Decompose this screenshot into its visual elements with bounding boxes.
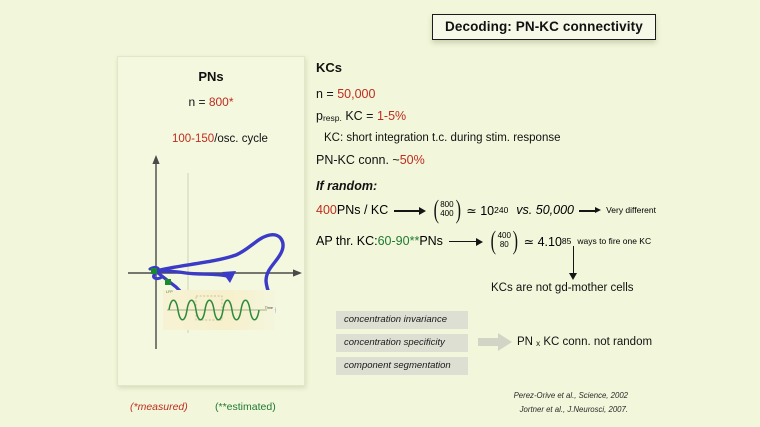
thick-right-arrow-icon [478, 333, 512, 351]
eq2-tail: ways to fire one KC [577, 236, 651, 246]
binom-numbers: 800 400 [440, 201, 453, 219]
if-random-heading: If random: [316, 179, 656, 193]
y-axis-arrowhead [152, 155, 159, 164]
down-arrow-icon [568, 246, 578, 280]
property-box: concentration specificity [336, 334, 468, 352]
arrow-head [498, 333, 512, 351]
right-arrow-icon [579, 205, 601, 215]
presp-subscript: resp. [323, 113, 342, 123]
kc-text-column: KCs n = 50,000 presp. KC = 1-5% KC: shor… [316, 60, 656, 250]
property-box: component segmentation [336, 357, 468, 375]
x-axis-arrowhead [293, 269, 302, 276]
eq1-count: 400 [316, 203, 337, 217]
conn-value: 50% [400, 153, 425, 167]
pn-panel: PNs n = 800* 100-150/osc. cycle [117, 56, 305, 386]
arrow-shaft [478, 338, 498, 346]
paren-left: ( [433, 201, 438, 220]
binomial-coefficient-400-80: ( 400 80 ) [489, 232, 520, 251]
right-arrow-icon [394, 205, 425, 215]
binom-bottom: 80 [500, 241, 509, 250]
slide-title-banner: Decoding: PN-KC connectivity [432, 14, 656, 40]
footnote-estimated: (**estimated) [215, 401, 276, 413]
binom-numbers: 400 80 [498, 232, 511, 250]
lfp-axis-label: LFP [166, 290, 173, 294]
not-random-conclusion: PN x KC conn. not random [517, 336, 652, 348]
conn-label: PN-KC conn. ~ [316, 153, 400, 167]
eq2-range: 60-90** [378, 234, 420, 248]
eq2-suffix: PNs [419, 234, 443, 248]
kc-n-label: n = [316, 87, 337, 101]
slide-canvas: Decoding: PN-KC connectivity PNs n = 800… [0, 0, 760, 427]
kc-integration-note: KC: short integration t.c. during stim. … [316, 132, 656, 144]
eq1-exponent: 240 [494, 205, 508, 215]
eq1-result: Very different [606, 205, 656, 215]
kc-neuron-count: n = 50,000 [316, 87, 656, 101]
kc-response-probability: presp. KC = 1-5% [316, 109, 656, 123]
binom-bottom: 400 [440, 210, 453, 219]
pn-osc-value: 100-150 [172, 133, 214, 145]
paren-left: ( [491, 232, 496, 251]
citation-list: Perez-Orive et al., Science, 2002 Jortne… [452, 389, 628, 416]
pn-kc-connectivity: PN-KC conn. ~50% [316, 153, 656, 167]
paren-right: ) [513, 232, 518, 251]
citation-item: Perez-Orive et al., Science, 2002 [452, 389, 628, 403]
eq2-prefix: AP thr. KC: [316, 234, 378, 248]
eq1-label: PNs / KC [337, 203, 388, 217]
presp-mid: KC = [342, 109, 377, 123]
state-dot [165, 279, 171, 285]
eq2-exponent: 85 [562, 236, 571, 246]
equation-row-ap-threshold: AP thr. KC: 60-90** PNs ( 400 80 ) ≃ 4.1… [316, 232, 656, 251]
pn-heading: PNs [118, 69, 304, 84]
trajectory-return-stroke [158, 271, 231, 277]
time-axis-label: Time [265, 306, 273, 310]
not-random-pre: PN [517, 336, 536, 348]
eq1-comparison: vs. 50,000 [516, 203, 574, 217]
binomial-coefficient-800-400: ( 800 400 ) [432, 201, 463, 220]
page-title: Decoding: PN-KC connectivity [445, 19, 643, 34]
presp-prefix: p [316, 109, 323, 123]
lfp-waveform-svg [163, 290, 275, 330]
paren-right: ) [455, 201, 460, 220]
pn-neuron-count: n = 800* [118, 95, 304, 109]
kc-heading: KCs [316, 60, 656, 75]
eq2-approx: ≃ 4.10 [524, 234, 562, 249]
footnote-measured: (*measured) [130, 401, 188, 413]
citation-item: Jortner et al., J.Neurosci, 2007. [452, 403, 628, 417]
conclusion-text: KCs are not gd-mother cells [491, 282, 634, 294]
pn-osc-suffix: /osc. cycle [214, 133, 268, 145]
property-box: concentration invariance [336, 311, 468, 329]
kc-n-value: 50,000 [337, 87, 375, 101]
presp-value: 1-5% [377, 109, 406, 123]
eq1-approx: ≃ 10 [466, 203, 494, 218]
state-dot [151, 268, 157, 274]
lfp-oscillation-inset: LFP Time [163, 290, 275, 330]
pn-osc-rate: 100-150/osc. cycle [172, 133, 268, 145]
not-random-post: KC conn. not random [540, 336, 652, 348]
pn-n-value: 800* [209, 95, 234, 109]
equation-row-random-combinations: 400 PNs / KC ( 800 400 ) ≃ 10240 vs. 50,… [316, 201, 656, 220]
right-arrow-icon [449, 236, 483, 246]
pn-n-label: n = [188, 95, 208, 109]
property-boxes-group: concentration invariance concentration s… [336, 311, 468, 380]
